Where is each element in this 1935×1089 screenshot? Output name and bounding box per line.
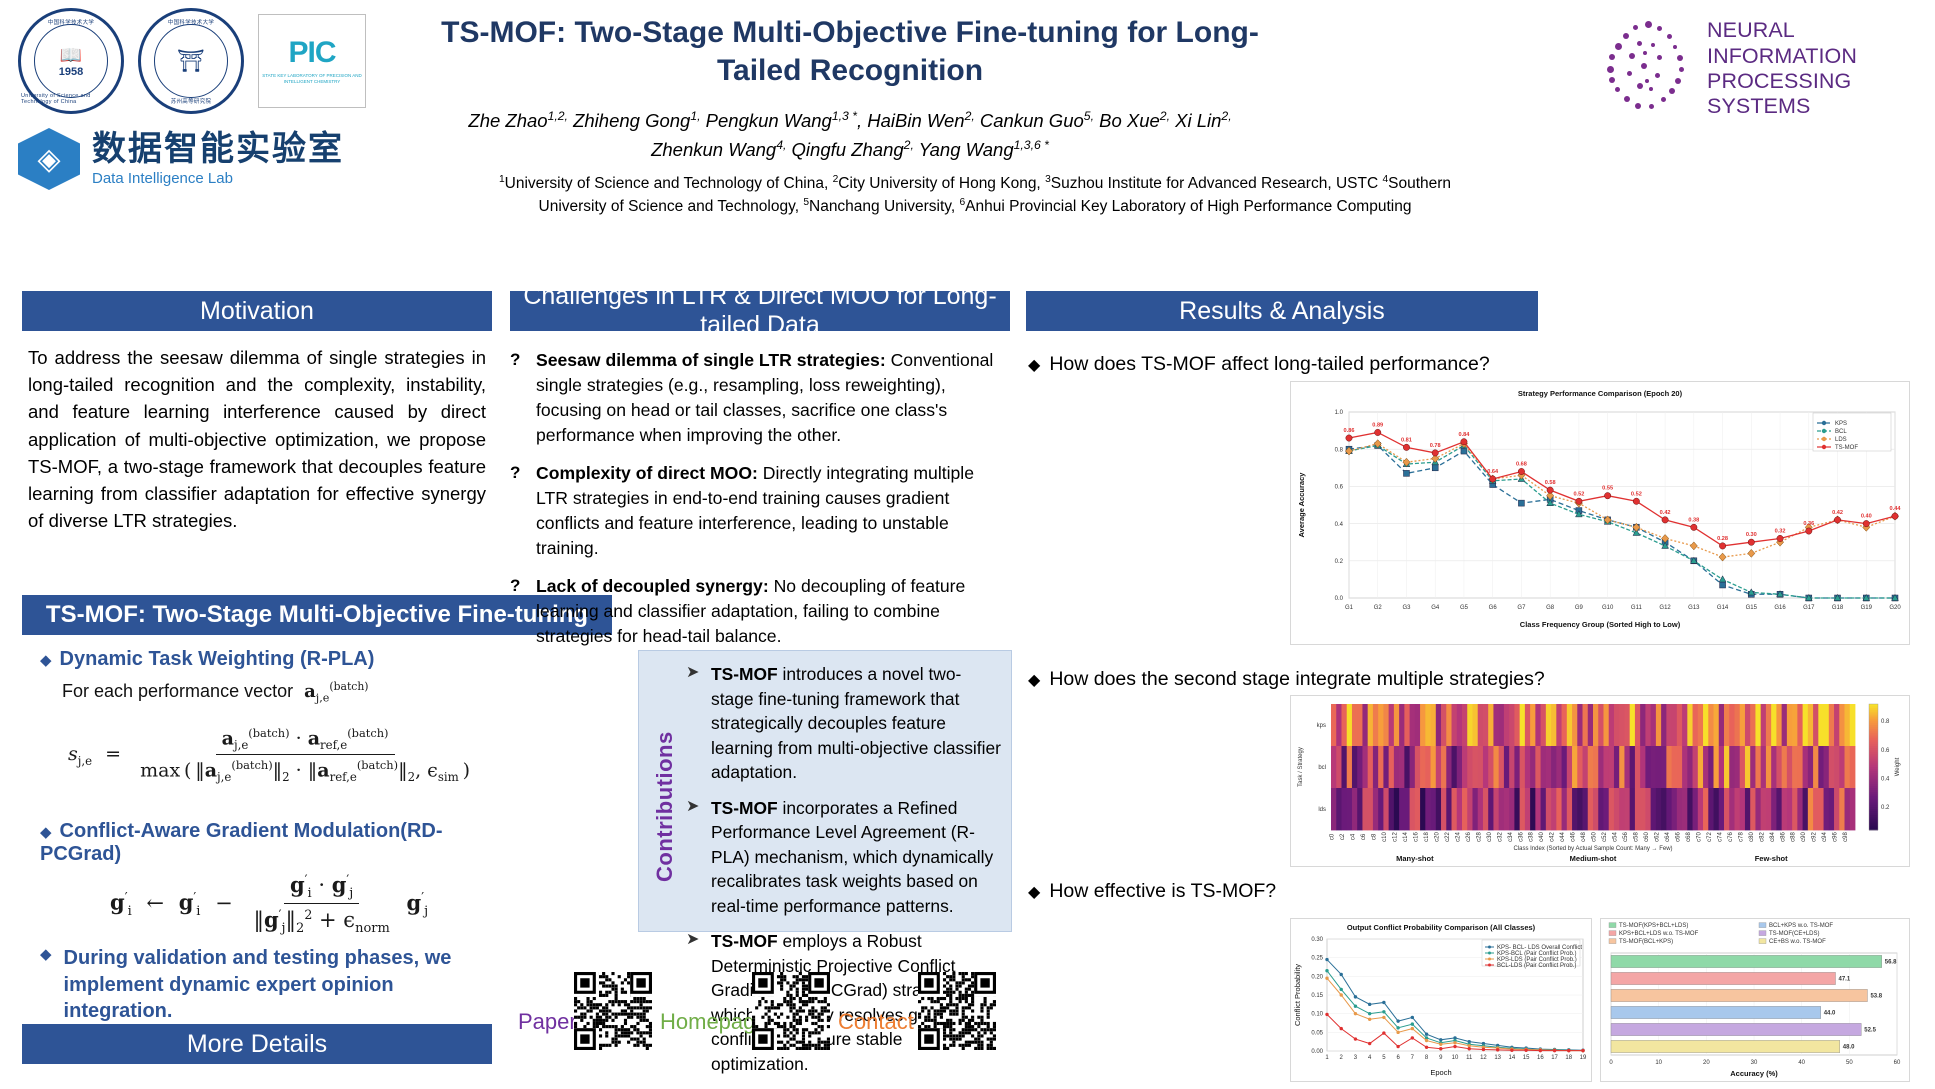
svg-text:c50: c50: [1592, 832, 1598, 842]
svg-text:Epoch: Epoch: [1430, 1068, 1451, 1077]
method-sub1-title: Dynamic Task Weighting (R-PLA): [60, 648, 375, 670]
svg-text:CE+BS w.o. TS-MOF: CE+BS w.o. TS-MOF: [1769, 939, 1826, 945]
chart-strategy-performance: Strategy Performance Comparison (Epoch 2…: [1290, 381, 1910, 645]
qr-label-paper: Paper: [518, 1009, 577, 1035]
svg-text:G8: G8: [1546, 605, 1555, 611]
svg-text:0.78: 0.78: [1430, 443, 1441, 449]
svg-text:Strategy Performance Compariso: Strategy Performance Comparison (Epoch 2…: [1518, 389, 1683, 398]
arrow-bullet-icon: ➤: [686, 796, 700, 919]
challenge-item: ?Lack of decoupled synergy: No decouplin…: [510, 574, 1010, 649]
poster-title: TS-MOF: Two-Stage Multi-Objective Fine-t…: [430, 14, 1270, 91]
svg-text:BCL+KPS w.o. TS-MOF: BCL+KPS w.o. TS-MOF: [1769, 923, 1833, 929]
svg-text:0.55: 0.55: [1602, 486, 1613, 492]
svg-text:0.2: 0.2: [1881, 805, 1890, 811]
contribution-item: ➤TS-MOF introduces a novel two-stage fin…: [686, 662, 1002, 785]
svg-text:TS-MOF(BCL+KPS): TS-MOF(BCL+KPS): [1619, 939, 1673, 945]
qr-code-contact[interactable]: [918, 972, 996, 1050]
ustc-logo-year: 1958: [59, 66, 83, 78]
diamond-bullet-icon: ◆: [1028, 882, 1040, 902]
method-sub3-line1: During validation and testing phases, we: [64, 947, 452, 969]
svg-text:48.0: 48.0: [1843, 1045, 1855, 1051]
svg-text:1.0: 1.0: [1335, 410, 1344, 416]
results-question-1-text: How does TS-MOF affect long-tailed perfo…: [1049, 353, 1489, 376]
author-list: Zhe Zhao1,2, Zhiheng Gong1, Pengkun Wang…: [400, 107, 1300, 165]
svg-text:56.8: 56.8: [1885, 960, 1897, 966]
equation-r-pla: sj,e = aj,e(batch) · aref,e(batch) max (…: [68, 726, 476, 784]
svg-text:G4: G4: [1431, 605, 1440, 611]
svg-text:G19: G19: [1861, 605, 1873, 611]
results-question-3-text: How effective is TS-MOF?: [1049, 880, 1276, 903]
svg-text:c58: c58: [1634, 832, 1640, 842]
svg-text:0.25: 0.25: [1311, 956, 1323, 962]
results-question-2-text: How does the second stage integrate mult…: [1049, 668, 1544, 691]
svg-text:c0: c0: [1330, 833, 1336, 840]
neurips-dots-icon: [1593, 17, 1697, 121]
pic-logo-subtitle: STATE KEY LABORATORY OF PRECISION AND IN…: [259, 73, 365, 85]
svg-text:c48: c48: [1581, 832, 1587, 842]
svg-text:c76: c76: [1728, 832, 1734, 842]
svg-text:c92: c92: [1812, 832, 1818, 842]
svg-text:c46: c46: [1571, 832, 1577, 842]
suzhou-logo: 中国科学技术大学 ⛩ 苏州高等研究院: [138, 8, 244, 114]
svg-text:c90: c90: [1801, 832, 1807, 842]
svg-text:Accuracy (%): Accuracy (%): [1730, 1069, 1778, 1078]
svg-text:20: 20: [1703, 1060, 1710, 1066]
svg-text:c12: c12: [1393, 832, 1399, 842]
svg-text:0.8: 0.8: [1335, 447, 1344, 453]
svg-text:c86: c86: [1780, 832, 1786, 842]
svg-text:Class Frequency Group (Sorted: Class Frequency Group (Sorted High to Lo…: [1520, 620, 1681, 629]
svg-text:0.52: 0.52: [1573, 491, 1584, 497]
svg-text:0.36: 0.36: [1803, 521, 1814, 527]
svg-text:0.89: 0.89: [1372, 422, 1383, 428]
svg-text:0.2: 0.2: [1335, 559, 1344, 565]
svg-text:c4: c4: [1351, 833, 1357, 840]
svg-text:c64: c64: [1665, 832, 1671, 842]
chart-accuracy-bars: TS-MOF(KPS+BCL+LDS)KPS+BCL+LDS w.o. TS-M…: [1600, 918, 1910, 1082]
question-mark-icon: ?: [510, 574, 524, 649]
svg-text:c14: c14: [1403, 832, 1409, 842]
lab-hex-icon: ◈: [18, 128, 80, 190]
pic-logo: PIC STATE KEY LABORATORY OF PRECISION AN…: [258, 14, 366, 108]
svg-text:30: 30: [1751, 1060, 1758, 1066]
challenge-item: ?Complexity of direct MOO: Directly inte…: [510, 461, 1010, 561]
chart-strategy-performance-svg: Strategy Performance Comparison (Epoch 2…: [1291, 382, 1909, 644]
svg-text:Few-shot: Few-shot: [1755, 854, 1788, 863]
svg-text:G17: G17: [1803, 605, 1815, 611]
svg-text:17: 17: [1551, 1055, 1558, 1061]
svg-text:c70: c70: [1696, 832, 1702, 842]
svg-text:c10: c10: [1382, 832, 1388, 842]
method-subsection-1: ◆Dynamic Task Weighting (R-PLA): [40, 648, 510, 671]
svg-text:G12: G12: [1659, 605, 1671, 611]
svg-text:G1: G1: [1345, 605, 1354, 611]
diamond-bullet-icon: ◆: [1028, 670, 1040, 690]
challenge-item-text: Complexity of direct MOO: Directly integ…: [536, 461, 1010, 561]
chart-conflict-probability: Output Conflict Probability Comparison (…: [1290, 918, 1592, 1082]
pic-logo-text: PIC: [288, 38, 335, 68]
svg-text:0.42: 0.42: [1660, 510, 1671, 516]
results-question-3: ◆ How effective is TS-MOF?: [1028, 880, 1276, 903]
contribution-item-text: TS-MOF incorporates a Refined Performanc…: [711, 796, 1002, 919]
svg-text:0.20: 0.20: [1311, 974, 1323, 980]
svg-text:0.64: 0.64: [1487, 469, 1499, 475]
qr-label-contact: Contact: [838, 1009, 914, 1035]
method-sub3-line2: implement dynamic expert opinion integra…: [64, 974, 394, 1023]
svg-text:19: 19: [1580, 1055, 1587, 1061]
svg-text:c60: c60: [1644, 832, 1650, 842]
svg-text:c68: c68: [1686, 832, 1692, 842]
section-header-more-details: More Details: [22, 1024, 492, 1064]
svg-text:c82: c82: [1759, 832, 1765, 842]
results-question-2: ◆ How does the second stage integrate mu…: [1028, 668, 1545, 691]
svg-text:0.4: 0.4: [1335, 522, 1344, 528]
svg-text:0.81: 0.81: [1401, 437, 1412, 443]
svg-text:LDS: LDS: [1835, 437, 1847, 443]
ustc-logo-arc-bottom: University of Science and Technology of …: [21, 93, 121, 105]
method-sub1-lead-text: For each performance vector: [62, 681, 293, 701]
svg-text:0.38: 0.38: [1688, 517, 1699, 523]
svg-text:0.05: 0.05: [1311, 1030, 1323, 1036]
svg-text:0.8: 0.8: [1881, 719, 1890, 725]
svg-text:0.68: 0.68: [1516, 462, 1527, 468]
chart-accuracy-bars-svg: TS-MOF(KPS+BCL+LDS)KPS+BCL+LDS w.o. TS-M…: [1601, 919, 1909, 1081]
neurips-wordmark: NEURAL INFORMATION PROCESSING SYSTEMS: [1707, 18, 1923, 119]
svg-text:G14: G14: [1717, 605, 1729, 611]
method-sub2-title: Conflict-Aware Gradient Modulation(RD-PC…: [40, 820, 443, 865]
challenge-item-text: Seesaw dilemma of single LTR strategies:…: [536, 348, 1010, 448]
svg-text:G20: G20: [1889, 605, 1901, 611]
method-sub1-lead: For each performance vector aj,e(batch): [62, 680, 369, 705]
svg-text:c30: c30: [1487, 832, 1493, 842]
affiliation-list: 1University of Science and Technology of…: [400, 172, 1550, 219]
svg-text:c24: c24: [1455, 832, 1461, 842]
svg-text:60: 60: [1894, 1060, 1901, 1066]
svg-text:0.4: 0.4: [1881, 776, 1890, 782]
motivation-text: To address the seesaw dilemma of single …: [28, 344, 486, 534]
svg-text:G10: G10: [1602, 605, 1614, 611]
svg-text:0.28: 0.28: [1717, 536, 1728, 542]
svg-text:Output Conflict Probability Co: Output Conflict Probability Comparison (…: [1347, 923, 1536, 932]
chart-task-weight-heatmap-svg: kpsbclldsTask / Strategyc0c2c4c6c8c10c12…: [1291, 696, 1909, 866]
svg-text:10: 10: [1655, 1060, 1662, 1066]
svg-text:47.1: 47.1: [1839, 977, 1851, 983]
svg-text:0.6: 0.6: [1881, 748, 1890, 754]
svg-text:0.30: 0.30: [1311, 937, 1323, 943]
diamond-bullet-icon: ◆: [40, 945, 52, 1025]
svg-text:0.6: 0.6: [1335, 485, 1344, 491]
svg-text:c78: c78: [1738, 832, 1744, 842]
section-header-challenges: Challenges in LTR & Direct MOO for Long-…: [510, 291, 1010, 331]
svg-text:12: 12: [1480, 1055, 1487, 1061]
ustc-logo-arc-top: 中国科学技术大学: [48, 18, 94, 26]
svg-text:BCL: BCL: [1835, 429, 1847, 435]
svg-text:c6: c6: [1361, 833, 1367, 840]
ustc-logo: 中国科学技术大学 📖 1958 University of Science an…: [18, 8, 124, 114]
question-mark-icon: ?: [510, 461, 524, 561]
svg-text:c96: c96: [1833, 832, 1839, 842]
svg-text:11: 11: [1466, 1055, 1473, 1061]
svg-text:Medium-shot: Medium-shot: [1570, 854, 1617, 863]
svg-text:G2: G2: [1374, 605, 1383, 611]
challenges-list: ?Seesaw dilemma of single LTR strategies…: [510, 348, 1010, 662]
svg-text:G7: G7: [1517, 605, 1526, 611]
author-line-2: Zhenkun Wang4, Qingfu Zhang2, Yang Wang1…: [400, 136, 1300, 165]
svg-text:c28: c28: [1476, 832, 1482, 842]
affiliation-line-1: 1University of Science and Technology of…: [400, 172, 1550, 195]
author-line-1: Zhe Zhao1,2, Zhiheng Gong1, Pengkun Wang…: [400, 107, 1300, 136]
svg-text:c52: c52: [1602, 832, 1608, 842]
diamond-bullet-icon: ◆: [40, 652, 52, 669]
svg-text:c74: c74: [1717, 832, 1723, 842]
svg-text:52.5: 52.5: [1864, 1028, 1876, 1034]
section-header-results: Results & Analysis: [1026, 291, 1538, 331]
arrow-bullet-icon: ➤: [686, 662, 700, 785]
poster-root: 中国科学技术大学 📖 1958 University of Science an…: [0, 0, 1935, 1089]
svg-text:c66: c66: [1675, 832, 1681, 842]
svg-text:G5: G5: [1460, 605, 1469, 611]
svg-text:KPS+BCL+LDS w.o. TS-MOF: KPS+BCL+LDS w.o. TS-MOF: [1619, 931, 1699, 937]
svg-text:c98: c98: [1843, 832, 1849, 842]
svg-text:40: 40: [1798, 1060, 1805, 1066]
svg-text:50: 50: [1846, 1060, 1853, 1066]
svg-text:c18: c18: [1424, 832, 1430, 842]
svg-text:G9: G9: [1575, 605, 1584, 611]
svg-text:TS-MOF: TS-MOF: [1835, 445, 1858, 451]
svg-text:c94: c94: [1822, 832, 1828, 842]
svg-text:c38: c38: [1529, 832, 1535, 842]
qr-code-paper[interactable]: [574, 972, 652, 1050]
svg-text:lds: lds: [1318, 807, 1326, 813]
svg-text:Many-shot: Many-shot: [1396, 854, 1434, 863]
svg-text:c44: c44: [1560, 832, 1566, 842]
svg-text:Weight: Weight: [1895, 757, 1901, 776]
svg-text:c20: c20: [1434, 832, 1440, 842]
contribution-item-text: TS-MOF introduces a novel two-stage fine…: [711, 662, 1002, 785]
svg-text:KPS: KPS: [1835, 421, 1847, 427]
chart-conflict-probability-svg: Output Conflict Probability Comparison (…: [1291, 919, 1591, 1081]
lab-name-cn: 数据智能实验室: [92, 132, 344, 166]
svg-text:0.0: 0.0: [1335, 596, 1344, 602]
logo-group: 中国科学技术大学 📖 1958 University of Science an…: [18, 8, 438, 218]
svg-text:14: 14: [1509, 1055, 1516, 1061]
svg-text:c72: c72: [1707, 832, 1713, 842]
svg-text:c88: c88: [1791, 832, 1797, 842]
equation-rd-pcgrad: g′i ← g′i − g′i · g′j ‖g′j‖22 + ϵnorm g′…: [110, 872, 428, 936]
svg-text:0.32: 0.32: [1775, 528, 1786, 534]
svg-text:G13: G13: [1688, 605, 1700, 611]
svg-text:G15: G15: [1746, 605, 1758, 611]
svg-text:15: 15: [1523, 1055, 1530, 1061]
svg-text:Class Index (Sorted by Actual: Class Index (Sorted by Actual Sample Cou…: [1513, 846, 1672, 852]
svg-text:c62: c62: [1655, 832, 1661, 842]
neurips-line-1: NEURAL INFORMATION: [1707, 18, 1923, 69]
svg-text:0.84: 0.84: [1459, 432, 1471, 438]
svg-text:G16: G16: [1774, 605, 1786, 611]
diamond-bullet-icon: ◆: [1028, 355, 1040, 375]
svg-text:Conflict Probability: Conflict Probability: [1293, 964, 1302, 1026]
svg-text:c80: c80: [1749, 832, 1755, 842]
svg-text:c8: c8: [1372, 833, 1378, 840]
suzhou-logo-arc-top: 中国科学技术大学: [168, 18, 214, 26]
neurips-line-2: PROCESSING SYSTEMS: [1707, 69, 1923, 120]
svg-text:0.10: 0.10: [1311, 1012, 1323, 1018]
contribution-item: ➤TS-MOF incorporates a Refined Performan…: [686, 796, 1002, 919]
svg-text:Task / Strategy: Task / Strategy: [1298, 747, 1304, 787]
svg-text:c22: c22: [1445, 832, 1451, 842]
challenge-item-text: Lack of decoupled synergy: No decoupling…: [536, 574, 1010, 649]
svg-text:c32: c32: [1497, 832, 1503, 842]
svg-text:G11: G11: [1631, 605, 1643, 611]
question-mark-icon: ?: [510, 348, 524, 448]
svg-text:c56: c56: [1623, 832, 1629, 842]
svg-text:0.52: 0.52: [1631, 491, 1642, 497]
neurips-logo: NEURAL INFORMATION PROCESSING SYSTEMS: [1593, 14, 1923, 124]
svg-text:G3: G3: [1402, 605, 1411, 611]
section-header-motivation: Motivation: [22, 291, 492, 331]
challenge-item: ?Seesaw dilemma of single LTR strategies…: [510, 348, 1010, 448]
lab-name-en: Data Intelligence Lab: [92, 170, 344, 187]
svg-text:c40: c40: [1539, 832, 1545, 842]
method-sub1-vector-symbol: aj,e(batch): [304, 681, 368, 702]
svg-text:c54: c54: [1613, 832, 1619, 842]
svg-text:0.42: 0.42: [1832, 510, 1843, 516]
svg-text:10: 10: [1452, 1055, 1459, 1061]
svg-text:c42: c42: [1550, 832, 1556, 842]
svg-text:0.00: 0.00: [1311, 1049, 1323, 1055]
svg-text:18: 18: [1565, 1055, 1572, 1061]
svg-text:TS-MOF(KPS+BCL+LDS): TS-MOF(KPS+BCL+LDS): [1619, 923, 1688, 929]
qr-code-homepage[interactable]: [752, 972, 830, 1050]
svg-text:0.30: 0.30: [1746, 532, 1757, 538]
svg-text:44.0: 44.0: [1824, 1011, 1836, 1017]
svg-text:0.40: 0.40: [1861, 514, 1872, 520]
affiliation-line-2: University of Science and Technology, 5N…: [400, 195, 1550, 218]
arrow-bullet-icon: ➤: [686, 929, 700, 1076]
svg-text:TS-MOF(CE+LDS): TS-MOF(CE+LDS): [1769, 931, 1820, 937]
svg-text:0.58: 0.58: [1545, 480, 1556, 486]
svg-text:0.44: 0.44: [1890, 506, 1902, 512]
diamond-bullet-icon: ◆: [40, 824, 52, 841]
svg-text:c26: c26: [1466, 832, 1472, 842]
svg-text:c84: c84: [1770, 832, 1776, 842]
contributions-label: Contributions: [652, 682, 678, 882]
method-subsection-2: ◆Conflict-Aware Gradient Modulation(RD-P…: [40, 820, 510, 866]
svg-text:kps: kps: [1317, 723, 1326, 729]
method-subsection-3: ◆ During validation and testing phases, …: [40, 945, 500, 1025]
svg-text:c34: c34: [1508, 832, 1514, 842]
svg-text:13: 13: [1494, 1055, 1501, 1061]
svg-text:bcl: bcl: [1318, 765, 1326, 771]
svg-text:c36: c36: [1518, 832, 1524, 842]
svg-text:BCL-LDS (Pair Conflict Prob.): BCL-LDS (Pair Conflict Prob.): [1497, 963, 1576, 969]
svg-text:G18: G18: [1832, 605, 1844, 611]
svg-text:c2: c2: [1340, 833, 1346, 840]
svg-text:16: 16: [1537, 1055, 1544, 1061]
svg-text:53.8: 53.8: [1870, 994, 1882, 1000]
svg-text:G6: G6: [1489, 605, 1498, 611]
results-question-1: ◆ How does TS-MOF affect long-tailed per…: [1028, 353, 1490, 376]
suzhou-logo-arc-bottom: 苏州高等研究院: [171, 97, 212, 105]
svg-text:0.15: 0.15: [1311, 993, 1323, 999]
svg-text:Average Accuracy: Average Accuracy: [1297, 472, 1306, 538]
svg-text:0.86: 0.86: [1344, 428, 1355, 434]
svg-text:c16: c16: [1413, 832, 1419, 842]
chart-task-weight-heatmap: kpsbclldsTask / Strategyc0c2c4c6c8c10c12…: [1290, 695, 1910, 867]
